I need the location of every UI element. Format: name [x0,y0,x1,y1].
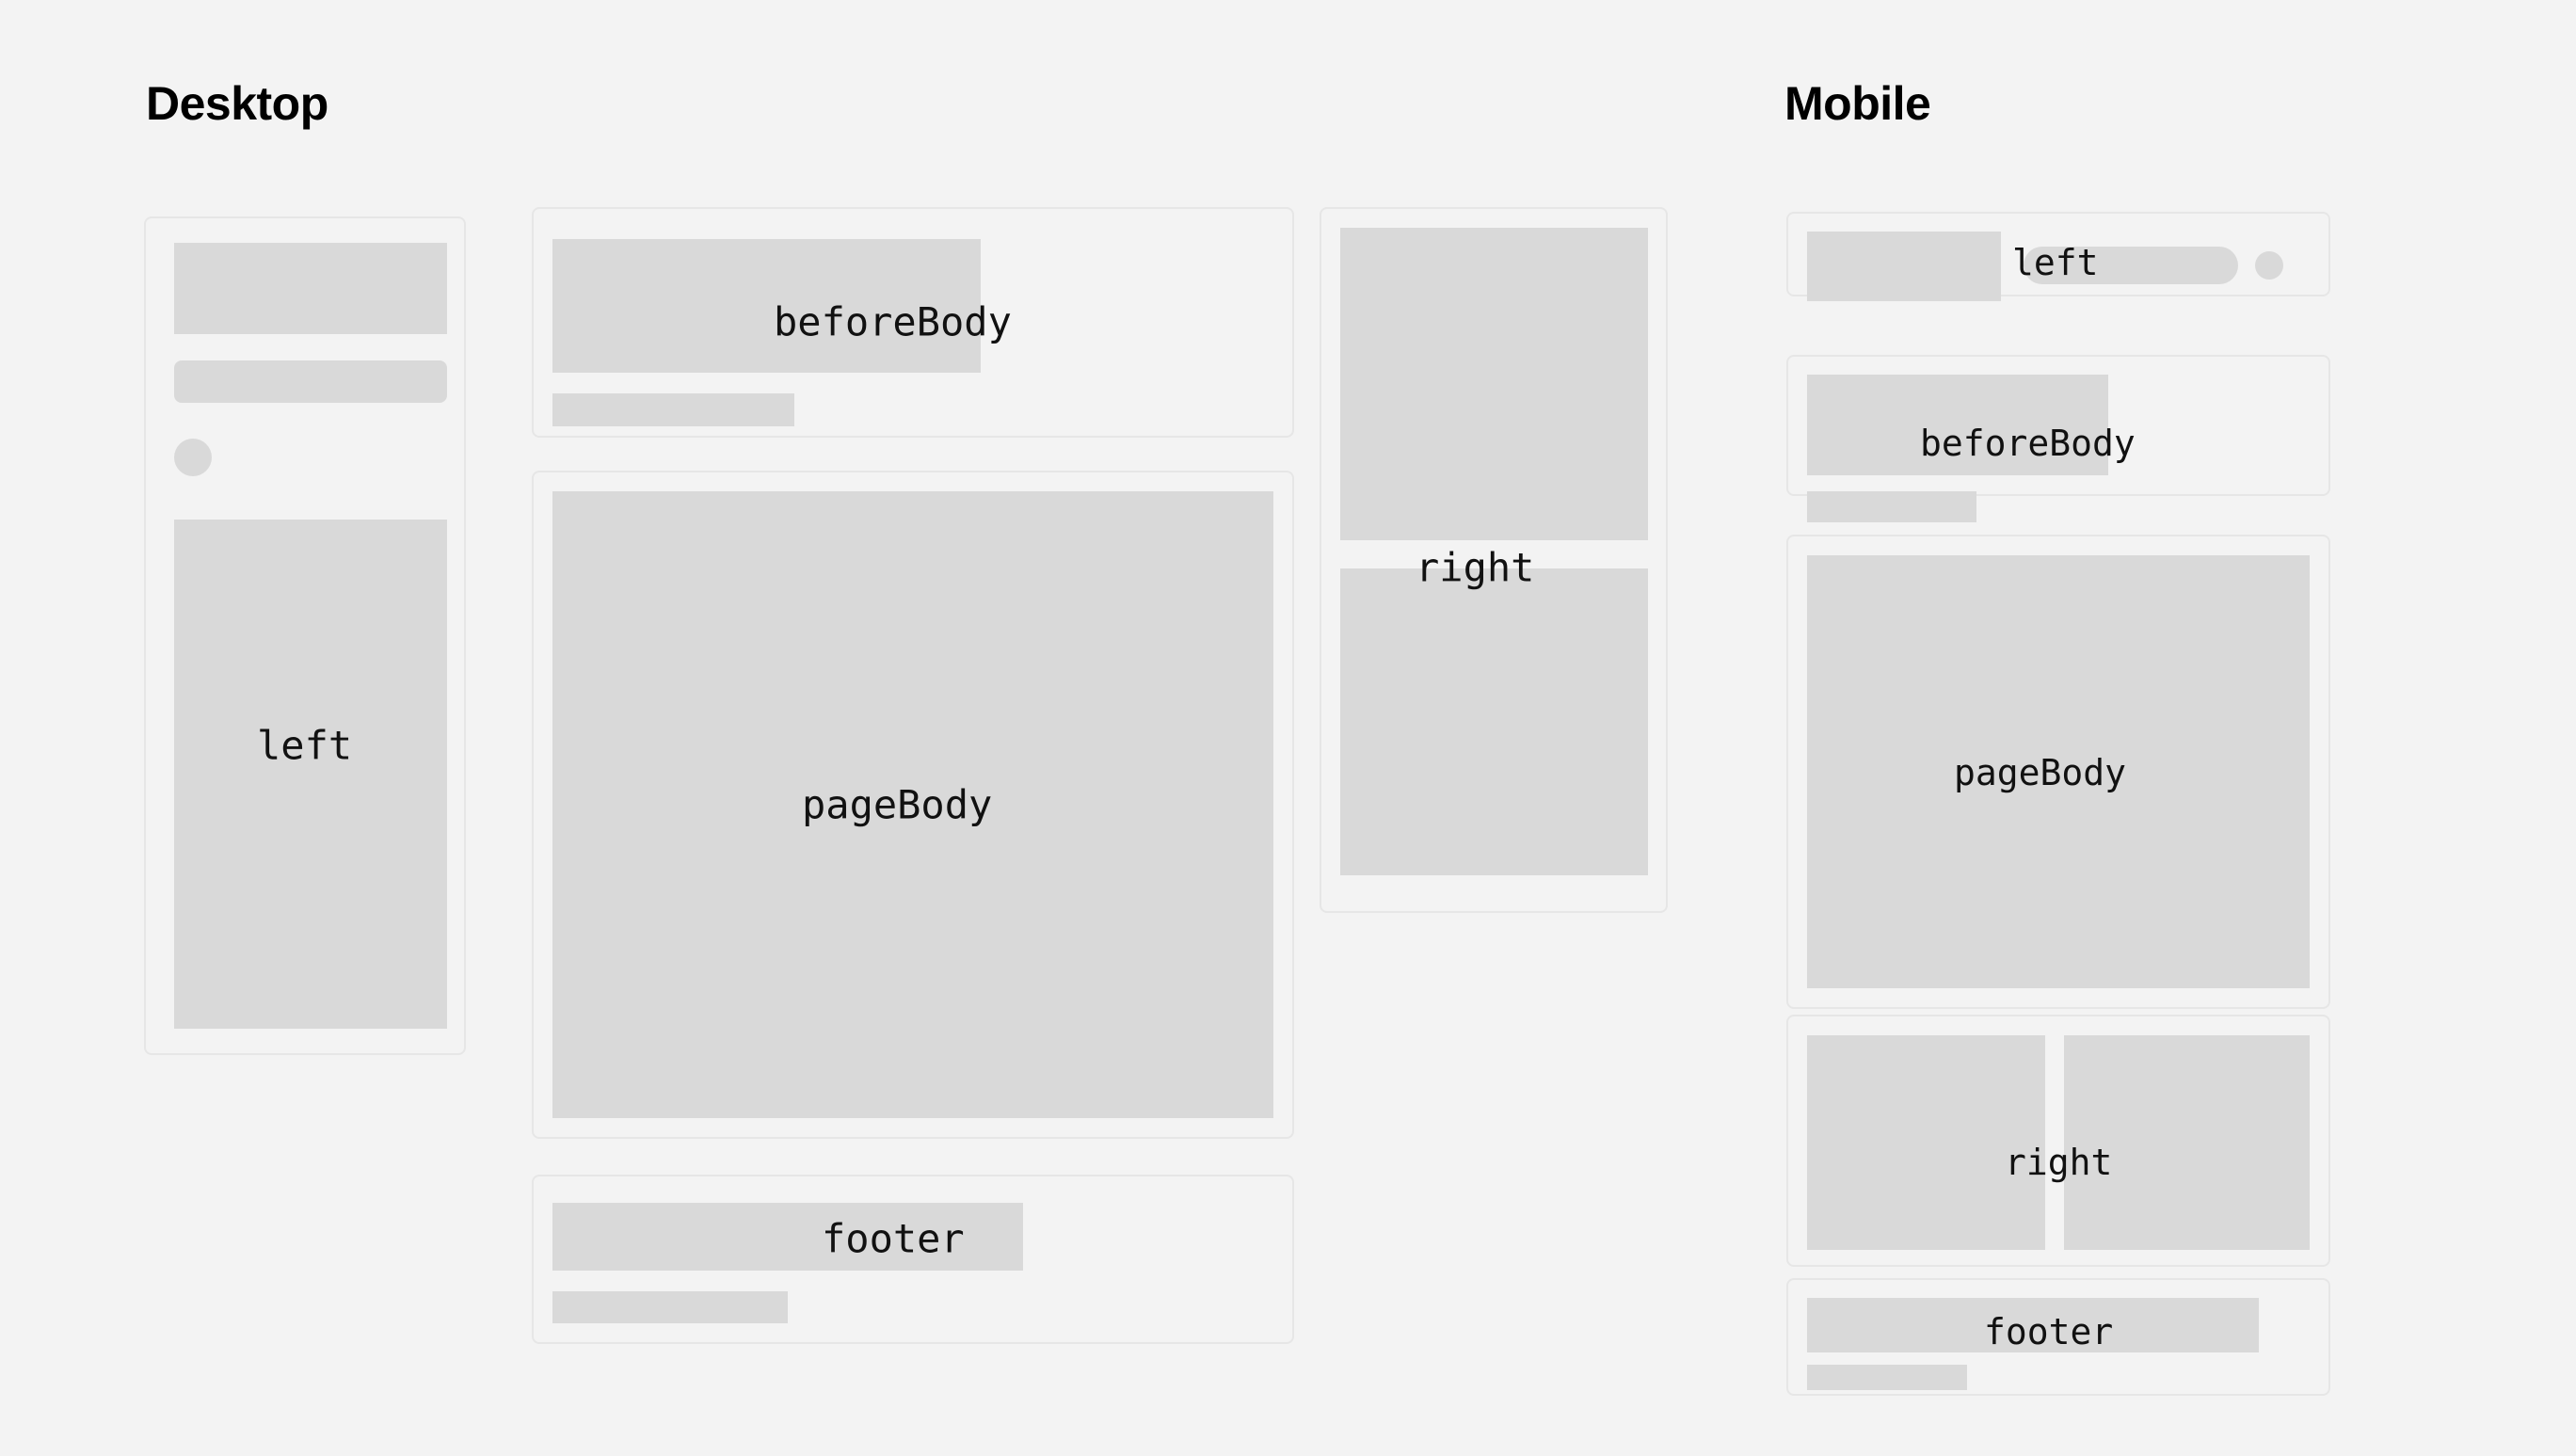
mobile-before-body-caption [1807,491,1976,522]
desktop-section-title: Desktop [146,80,328,127]
mobile-footer-block [1807,1298,2259,1352]
desktop-footer-caption [552,1291,788,1323]
desktop-page-body-block [552,491,1273,1118]
desktop-right-block-bottom [1340,568,1648,875]
desktop-right-block-top [1340,228,1648,540]
desktop-left-header-block [174,243,447,334]
desktop-left-avatar-dot [174,439,212,476]
mobile-right-block-left [1807,1035,2045,1250]
wireframe-stage: Desktop Mobile left beforeBody pageBody … [0,0,2576,1456]
desktop-before-body-panel[interactable]: beforeBody [532,207,1294,438]
mobile-before-body-block [1807,375,2108,475]
desktop-before-body-block [552,239,981,373]
desktop-page-body-panel[interactable]: pageBody [532,471,1294,1139]
desktop-footer-panel[interactable]: footer [532,1175,1294,1344]
mobile-page-body-block [1807,555,2310,988]
mobile-footer-caption [1807,1365,1967,1390]
desktop-left-body-block [174,520,447,1029]
mobile-footer-panel[interactable]: footer [1786,1278,2330,1396]
desktop-right-panel[interactable]: right [1320,207,1668,913]
mobile-page-body-panel[interactable]: pageBody [1786,535,2330,1009]
mobile-section-title: Mobile [1784,80,1930,127]
mobile-left-subheader-pill [2024,247,2238,284]
mobile-right-block-right [2064,1035,2310,1250]
desktop-footer-block [552,1203,1023,1271]
desktop-before-body-caption [552,393,794,426]
mobile-left-header-block [1807,232,2001,301]
mobile-left-avatar-dot [2255,251,2283,280]
desktop-left-subheader-block [174,360,447,403]
mobile-left-panel[interactable]: left [1786,212,2330,296]
mobile-before-body-panel[interactable]: beforeBody [1786,355,2330,496]
mobile-right-panel[interactable]: right [1786,1015,2330,1267]
desktop-left-panel[interactable]: left [144,216,466,1055]
